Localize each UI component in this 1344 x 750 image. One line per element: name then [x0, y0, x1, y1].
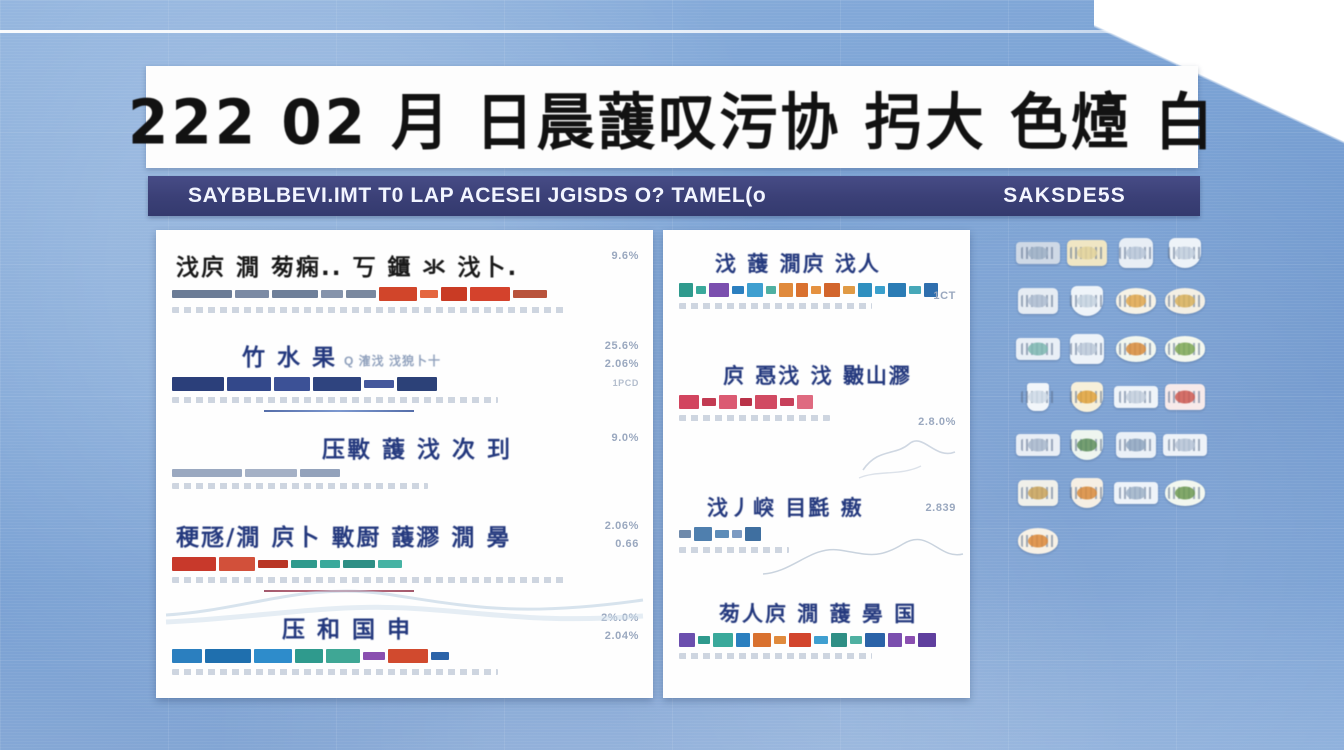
text-run [388, 649, 428, 663]
section-value: 9.0% [612, 432, 639, 444]
section-heading: 㳀 䕶 㵎㡶 㳀人 [679, 248, 954, 278]
text-run [797, 395, 813, 409]
cloud-thumb[interactable] [1114, 380, 1158, 414]
text-run [205, 649, 251, 663]
right-section[interactable]: 㳀丿㟮 目㲯 㾲2.839 [663, 492, 970, 553]
accent-underline [264, 590, 414, 592]
thumbnail-accent [1028, 295, 1048, 308]
text-run-group [679, 633, 954, 647]
text-run [888, 283, 906, 297]
text-run [343, 560, 375, 568]
placeholder-text-line [679, 303, 872, 309]
text-run [698, 636, 710, 644]
accent-underline [264, 410, 414, 412]
text-run [766, 286, 776, 294]
text-run [747, 283, 763, 297]
text-run [254, 649, 292, 663]
thumbnail-grid[interactable] [1016, 232, 1208, 554]
text-run [719, 395, 737, 409]
text-run [172, 557, 216, 571]
placeholder-text-line [679, 547, 789, 553]
slide-canvas: 222 02 月 日晨䕶叹污协 㧈大 色㸀 白 SAYBBLBEVI.IMT T… [0, 0, 1344, 750]
text-run [736, 633, 750, 647]
thumbnail-accent [1028, 343, 1048, 356]
text-run [774, 636, 786, 644]
text-run [321, 290, 343, 298]
title-card: 222 02 月 日晨䕶叹污协 㧈大 色㸀 白 [146, 66, 1198, 168]
grain-thumb[interactable] [1163, 332, 1207, 366]
burger-thumb[interactable] [1016, 284, 1060, 318]
thumbnail-accent [1028, 439, 1048, 452]
section-value-note: 1PCD [613, 378, 639, 388]
text-run [824, 283, 840, 297]
text-run [274, 377, 310, 391]
left-section[interactable]: 压 和 国 申2%.0%2.04% [156, 610, 653, 675]
text-run [227, 377, 271, 391]
soup-thumb[interactable] [1114, 476, 1158, 510]
text-run [679, 283, 693, 297]
section-value-secondary: 2.04% [605, 630, 639, 642]
left-content-panel[interactable]: 㳀㡶 㵎 茐痫.. 丂 鑎 氺 㳀卜.9.6%竹 水 果Q 㴶㳀 㳀㹸卜十25.… [156, 230, 653, 698]
plate-thumb[interactable] [1163, 236, 1207, 270]
fries-thumb[interactable] [1065, 380, 1109, 414]
bread-thumb[interactable] [1016, 428, 1060, 462]
thumbnail-accent [1126, 487, 1146, 500]
text-run [300, 469, 340, 477]
section-value-secondary: 0.66 [615, 538, 639, 550]
text-run [295, 649, 323, 663]
bowl-thumb[interactable] [1114, 236, 1158, 270]
placeholder-text-line [172, 577, 567, 583]
right-section[interactable]: 㳀 䕶 㵎㡶 㳀人1CT [663, 248, 970, 309]
thumbnail-accent [1175, 247, 1195, 260]
thumbnail-accent [1028, 247, 1048, 260]
text-run [918, 633, 936, 647]
text-run [905, 636, 915, 644]
text-run [172, 377, 224, 391]
placeholder-text-line [172, 483, 428, 489]
text-run [696, 286, 706, 294]
pastry-thumb[interactable] [1065, 236, 1109, 270]
text-run [831, 633, 847, 647]
text-run [363, 652, 385, 660]
text-run [326, 649, 360, 663]
section-heading-text: 压 和 国 申 [282, 610, 412, 644]
text-run [320, 560, 340, 568]
cake-thumb[interactable] [1016, 332, 1060, 366]
text-run [858, 283, 872, 297]
text-run [753, 633, 771, 647]
text-run [779, 283, 793, 297]
text-run [679, 530, 691, 538]
glass-thumb[interactable] [1016, 380, 1060, 414]
thumbnail-accent [1126, 295, 1146, 308]
text-run [219, 557, 255, 571]
text-run [715, 530, 729, 538]
thumbnail-accent [1175, 391, 1195, 404]
text-run [709, 283, 729, 297]
placeholder-text-line [679, 415, 830, 421]
text-run [397, 377, 437, 391]
section-heading-text: 压㪤 䕶 㳀 次 㺫 [322, 430, 512, 464]
text-run [694, 527, 712, 541]
thumbnail-accent [1077, 295, 1097, 308]
text-run [513, 290, 547, 298]
left-section[interactable]: 㳀㡶 㵎 茐痫.. 丂 鑎 氺 㳀卜.9.6% [156, 248, 653, 313]
section-value: 2.8.0% [918, 416, 956, 428]
section-heading: 㳀丿㟮 目㲯 㾲 [679, 492, 954, 522]
text-run [843, 286, 855, 294]
thumbnail-accent [1077, 343, 1097, 356]
text-run [732, 530, 742, 538]
thumbnail-accent [1028, 391, 1048, 404]
thumbnail-accent [1028, 535, 1048, 548]
section-heading: 竹 水 果Q 㴶㳀 㳀㹸卜十 [172, 338, 637, 372]
page-title: 222 02 月 日晨䕶叹污协 㧈大 色㸀 白 [128, 72, 1216, 161]
text-run [346, 290, 376, 298]
salad-thumb[interactable] [1114, 332, 1158, 366]
thumbnail-accent [1077, 391, 1097, 404]
thumbnail-accent [1077, 247, 1097, 260]
pot-thumb[interactable] [1065, 428, 1109, 462]
text-run [796, 283, 808, 297]
text-run [378, 560, 402, 568]
right-content-panel[interactable]: 㳀 䕶 㵎㡶 㳀人1CT㡶 㥑㳀 㳀 㿺山㶀2.8.0%㳀丿㟮 目㲯 㾲2.83… [663, 230, 970, 698]
text-run [679, 395, 699, 409]
thumbnail-accent [1175, 487, 1195, 500]
section-heading: 㳀㡶 㵎 茐痫.. 丂 鑎 氺 㳀卜. [172, 248, 637, 282]
subtitle-text: SAYBBLBEVI.IMT T0 LAP ACESEI JGISDS O? T… [188, 184, 766, 208]
thumbnail-accent [1126, 247, 1146, 260]
dish-thumb[interactable] [1114, 428, 1158, 462]
text-run [172, 469, 242, 477]
section-value: 1CT [933, 290, 956, 302]
thumbnail-accent [1077, 487, 1097, 500]
text-run-group [679, 283, 954, 297]
text-run [888, 633, 902, 647]
text-run [909, 286, 921, 294]
section-heading-text: 㳀 䕶 㵎㡶 㳀人 [715, 248, 881, 278]
text-run-group [172, 287, 637, 301]
text-run [470, 287, 510, 301]
subtitle-tail-text: SAKSDE5S [1003, 184, 1126, 208]
text-run [441, 287, 467, 301]
fish-thumb[interactable] [1163, 284, 1207, 318]
box-thumb[interactable] [1163, 428, 1207, 462]
section-value-secondary: 2.06% [605, 358, 639, 370]
text-run [313, 377, 361, 391]
cone-thumb[interactable] [1065, 284, 1109, 318]
subtitle-band: SAYBBLBEVI.IMT T0 LAP ACESEI JGISDS O? T… [148, 176, 1200, 216]
section-heading: 压 和 国 申 [172, 610, 637, 644]
section-heading-text: 稉㒮/㵎 㡶卜 㪤㕑 䕶㶀 㵎 㬅 [176, 518, 511, 552]
section-heading: 稉㒮/㵎 㡶卜 㪤㕑 䕶㶀 㵎 㬅 [172, 518, 637, 552]
text-run [702, 398, 716, 406]
text-run [780, 398, 794, 406]
text-run-group [172, 649, 637, 663]
section-heading-text: 㳀丿㟮 目㲯 㾲 [707, 492, 864, 522]
thumbnail-accent [1126, 343, 1146, 356]
snack-thumb[interactable] [1016, 524, 1060, 558]
thumbnail-accent [1175, 343, 1195, 356]
veg-thumb[interactable] [1163, 476, 1207, 510]
thumbnail-accent [1126, 439, 1146, 452]
section-heading-text: 㡶 㥑㳀 㳀 㿺山㶀 [723, 360, 912, 390]
left-section[interactable]: 稉㒮/㵎 㡶卜 㪤㕑 䕶㶀 㵎 㬅2.06%0.66 [156, 518, 653, 594]
text-run [172, 649, 202, 663]
placeholder-text-line [679, 653, 872, 659]
text-run-group [679, 527, 954, 541]
right-section[interactable]: 㡶 㥑㳀 㳀 㿺山㶀2.8.0% [663, 360, 970, 421]
text-run [732, 286, 744, 294]
text-run [850, 636, 862, 644]
sandwich-thumb[interactable] [1016, 236, 1060, 270]
text-run [245, 469, 297, 477]
text-run [364, 380, 394, 388]
text-run [258, 560, 288, 568]
placeholder-text-line [172, 397, 498, 403]
text-run [291, 560, 317, 568]
placeholder-text-line [172, 669, 498, 675]
section-heading-text: 茐人㡶 㵎 䕶 㬅 国 [719, 598, 917, 628]
section-value: 2.06% [605, 520, 639, 532]
text-run [379, 287, 417, 301]
thumbnail-accent [1175, 295, 1195, 308]
text-run-group [679, 395, 954, 409]
tray-thumb[interactable] [1065, 332, 1109, 366]
right-section[interactable]: 茐人㡶 㵎 䕶 㬅 国 [663, 598, 970, 659]
text-run [272, 290, 318, 298]
thumbnail-accent [1175, 439, 1195, 452]
text-run [713, 633, 733, 647]
section-heading-text: 竹 水 果 [242, 338, 337, 372]
left-section[interactable]: 竹 水 果Q 㴶㳀 㳀㹸卜十25.6%2.06%1PCD [156, 338, 653, 414]
section-heading: 㡶 㥑㳀 㳀 㿺山㶀 [679, 360, 954, 390]
section-heading: 压㪤 䕶 㳀 次 㺫 [172, 430, 637, 464]
text-run [789, 633, 811, 647]
text-run-group [172, 557, 637, 571]
section-heading: 茐人㡶 㵎 䕶 㬅 国 [679, 598, 954, 628]
text-run [235, 290, 269, 298]
section-value: 2.839 [925, 502, 956, 514]
section-value: 2%.0% [601, 612, 639, 624]
text-run [875, 286, 885, 294]
text-run [814, 636, 828, 644]
left-section[interactable]: 压㪤 䕶 㳀 次 㺫9.0% [156, 430, 653, 489]
text-run-group [172, 377, 637, 391]
section-heading-tail: Q 㴶㳀 㳀㹸卜十 [344, 352, 441, 369]
text-run [811, 286, 821, 294]
text-run [431, 652, 449, 660]
text-run [740, 398, 752, 406]
text-run [865, 633, 885, 647]
thumbnail-accent [1126, 391, 1146, 404]
text-run-group [172, 469, 637, 477]
thumbnail-accent [1028, 487, 1048, 500]
section-value: 9.6% [612, 250, 639, 262]
placeholder-text-line [172, 307, 567, 313]
thumbnail-accent [1077, 439, 1097, 452]
text-run [172, 290, 232, 298]
section-heading-text: 㳀㡶 㵎 茐痫.. 丂 鑎 氺 㳀卜. [176, 248, 518, 282]
noodle-thumb[interactable] [1114, 284, 1158, 318]
basket-thumb[interactable] [1163, 380, 1207, 414]
text-run [420, 290, 438, 298]
platter-thumb[interactable] [1016, 476, 1060, 510]
section-value: 25.6% [605, 340, 639, 352]
text-run [755, 395, 777, 409]
text-run [679, 633, 695, 647]
roll-thumb[interactable] [1065, 476, 1109, 510]
text-run [745, 527, 761, 541]
